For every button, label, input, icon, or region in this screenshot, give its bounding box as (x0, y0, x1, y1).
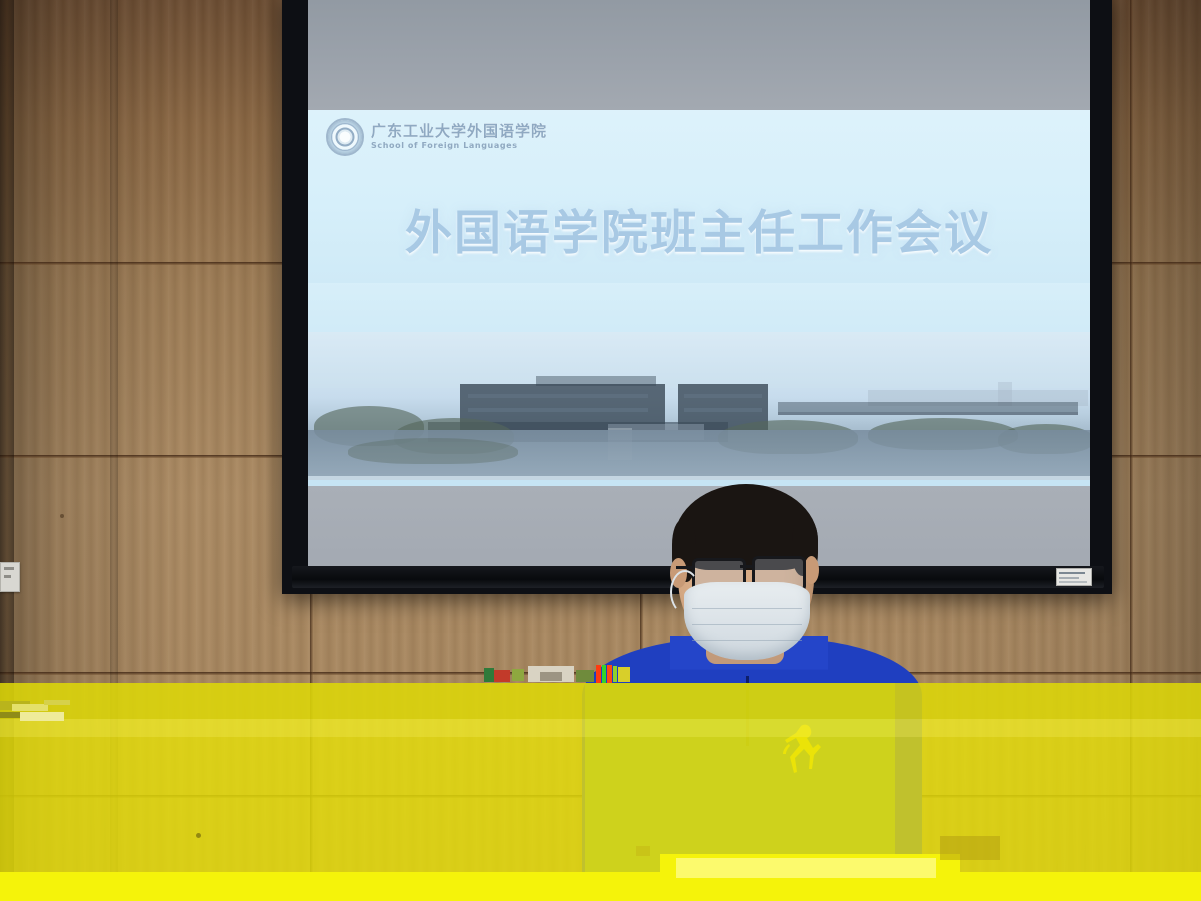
organization-name-cn: 广东工业大学外国语学院 (371, 124, 547, 140)
mask-pleat (692, 624, 803, 625)
corruption-pixel-block (494, 670, 510, 682)
corruption-pixel-block (602, 665, 606, 683)
panorama-walkway (778, 412, 1078, 415)
corruption-solid-block (676, 858, 936, 878)
panorama-shore (348, 438, 518, 464)
corruption-pixel-block (484, 668, 494, 682)
corruption-pixel-block (12, 704, 48, 711)
label-text-line (1059, 581, 1087, 583)
glasses-bridge (740, 565, 752, 568)
panorama-building-band (684, 408, 762, 412)
wall-mark (196, 833, 201, 838)
equipment-label (1056, 568, 1092, 586)
corruption-pixel-block (44, 700, 70, 705)
campus-panorama-photo (308, 332, 1090, 480)
corruption-pixel-block (596, 665, 601, 683)
label-text-line (1059, 572, 1085, 574)
corruption-pixel-block (576, 670, 594, 682)
presentation-slide: 广东工业大学外国语学院 School of Foreign Languages … (308, 110, 1090, 486)
corruption-pixel-block (20, 712, 64, 721)
mask-pleat (692, 608, 803, 609)
panorama-building-band (468, 394, 648, 398)
glasses-temple (676, 566, 694, 569)
wall-mark (60, 514, 64, 518)
organization-logo: 广东工业大学外国语学院 School of Foreign Languages (326, 118, 547, 156)
mask-pleat (692, 640, 803, 641)
corruption-pixel-block (613, 666, 617, 682)
presenter-ear (804, 556, 819, 584)
slide-title: 外国语学院班主任工作会议 (308, 194, 1090, 263)
outlet-slot (4, 567, 14, 570)
mask-ear-strap (670, 570, 700, 614)
corruption-pixel-block (0, 712, 22, 718)
wall-outlet-plate[interactable] (0, 562, 20, 592)
panorama-walkway (778, 402, 1078, 412)
screenshot-root: 广东工业大学外国语学院 School of Foreign Languages … (0, 0, 1201, 901)
corruption-subband (0, 683, 1201, 719)
organization-name-en: School of Foreign Languages (371, 141, 547, 150)
corruption-pixel-block (607, 665, 612, 683)
corruption-solid-block (0, 872, 1201, 901)
label-text-line (1059, 577, 1079, 579)
corruption-pixel-block (512, 669, 524, 681)
corruption-pixel-block (940, 836, 1000, 860)
corruption-subband (0, 719, 1201, 737)
corruption-pixel-block (540, 672, 562, 681)
panorama-building-roof (536, 376, 656, 386)
outlet-slot (4, 575, 11, 578)
corruption-pixel-block (618, 667, 630, 682)
projector-letterbox-top (308, 0, 1090, 110)
panorama-building-band (684, 394, 762, 398)
panorama-building-band (468, 408, 648, 412)
panorama-sky (308, 332, 1090, 388)
corruption-pixel-block (636, 846, 650, 856)
university-seal-icon (326, 118, 364, 156)
